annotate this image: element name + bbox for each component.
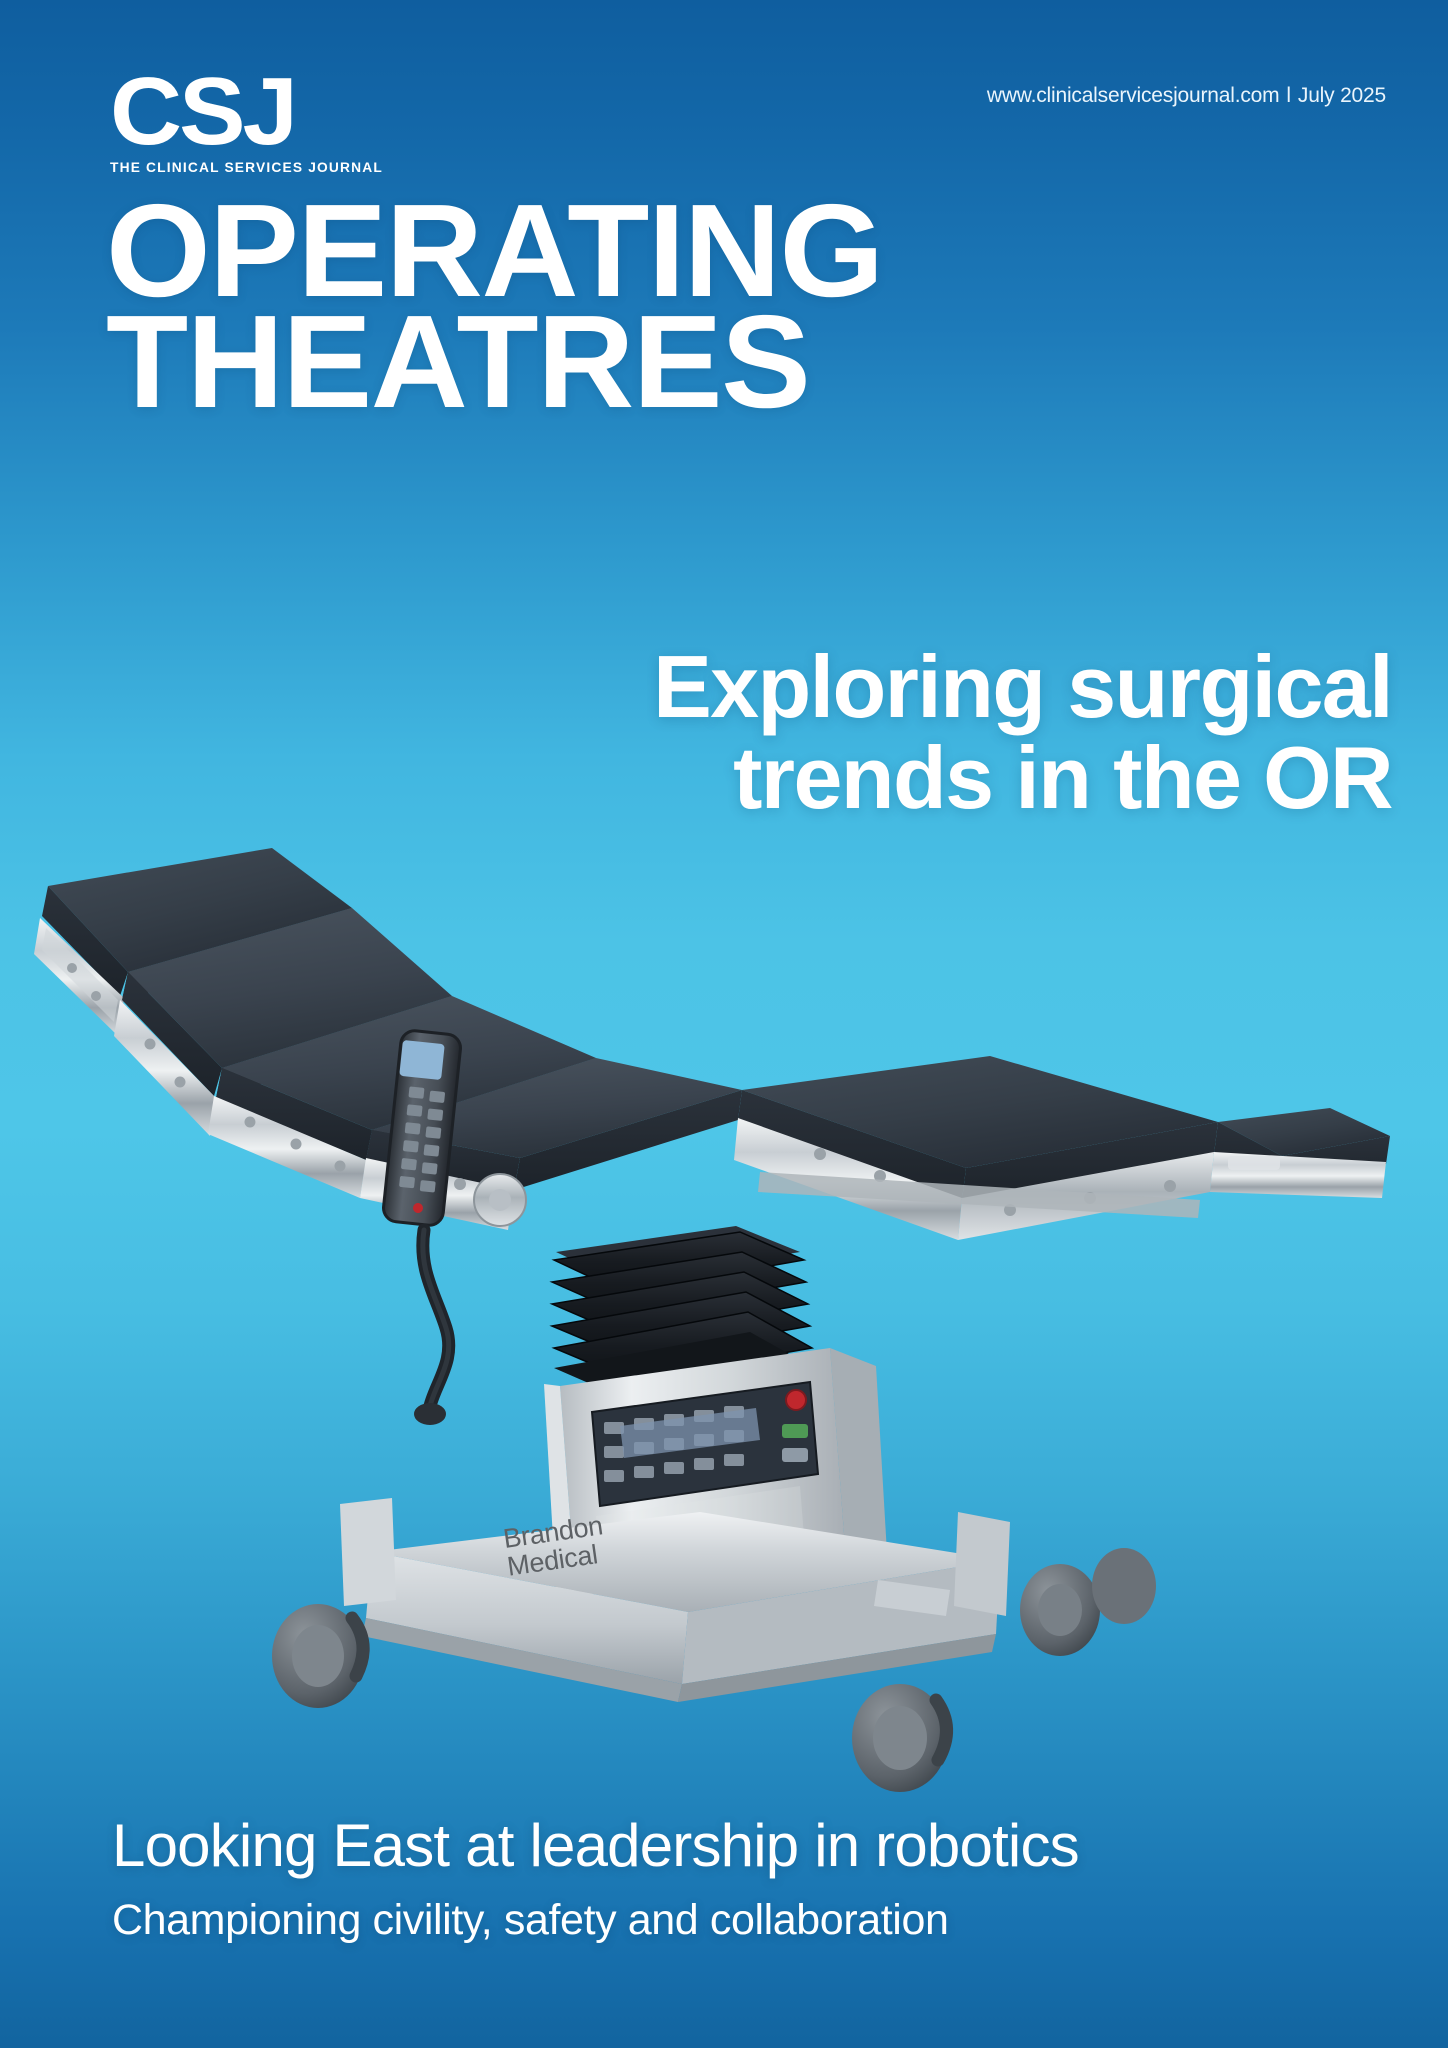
website-url: www.clinicalservicesjournal.com	[987, 84, 1280, 107]
caster-front-left	[272, 1604, 364, 1708]
table-base	[340, 1498, 1010, 1702]
csj-tagline: THE CLINICAL SERVICES JOURNAL	[110, 160, 383, 175]
caster-front-right	[852, 1684, 948, 1792]
teaser-primary: Looking East at leadership in robotics	[112, 1812, 1079, 1879]
hinge-knuckle-left	[474, 1174, 526, 1226]
cover-teasers: Looking East at leadership in robotics C…	[112, 1812, 1079, 1944]
masthead: CSJ THE CLINICAL SERVICES JOURNAL	[110, 68, 378, 175]
caster-rear-left	[1092, 1548, 1156, 1624]
caster-rear-right	[1020, 1564, 1100, 1656]
cover-title: OPERATING THEATRES	[106, 196, 883, 418]
cover-subheadline: Exploring surgical trends in the OR	[392, 642, 1392, 823]
csj-logo: CSJ	[110, 68, 388, 156]
teaser-secondary: Championing civility, safety and collabo…	[112, 1897, 1079, 1944]
cover-title-line-2: THEATRES	[106, 307, 883, 418]
issue-date: July 2025	[1298, 84, 1386, 107]
cover-subheadline-line-1: Exploring surgical	[392, 642, 1392, 733]
separator-glyph: l	[1279, 84, 1297, 107]
magazine-cover: Brandon Medical CSJ THE CLINICAL SERVICE…	[0, 0, 1448, 2048]
website-and-issue-line: www.clinicalservicesjournal.comlJuly 202…	[987, 84, 1386, 108]
operating-table-photo: Brandon Medical	[0, 800, 1448, 1800]
cover-subheadline-line-2: trends in the OR	[392, 733, 1392, 824]
